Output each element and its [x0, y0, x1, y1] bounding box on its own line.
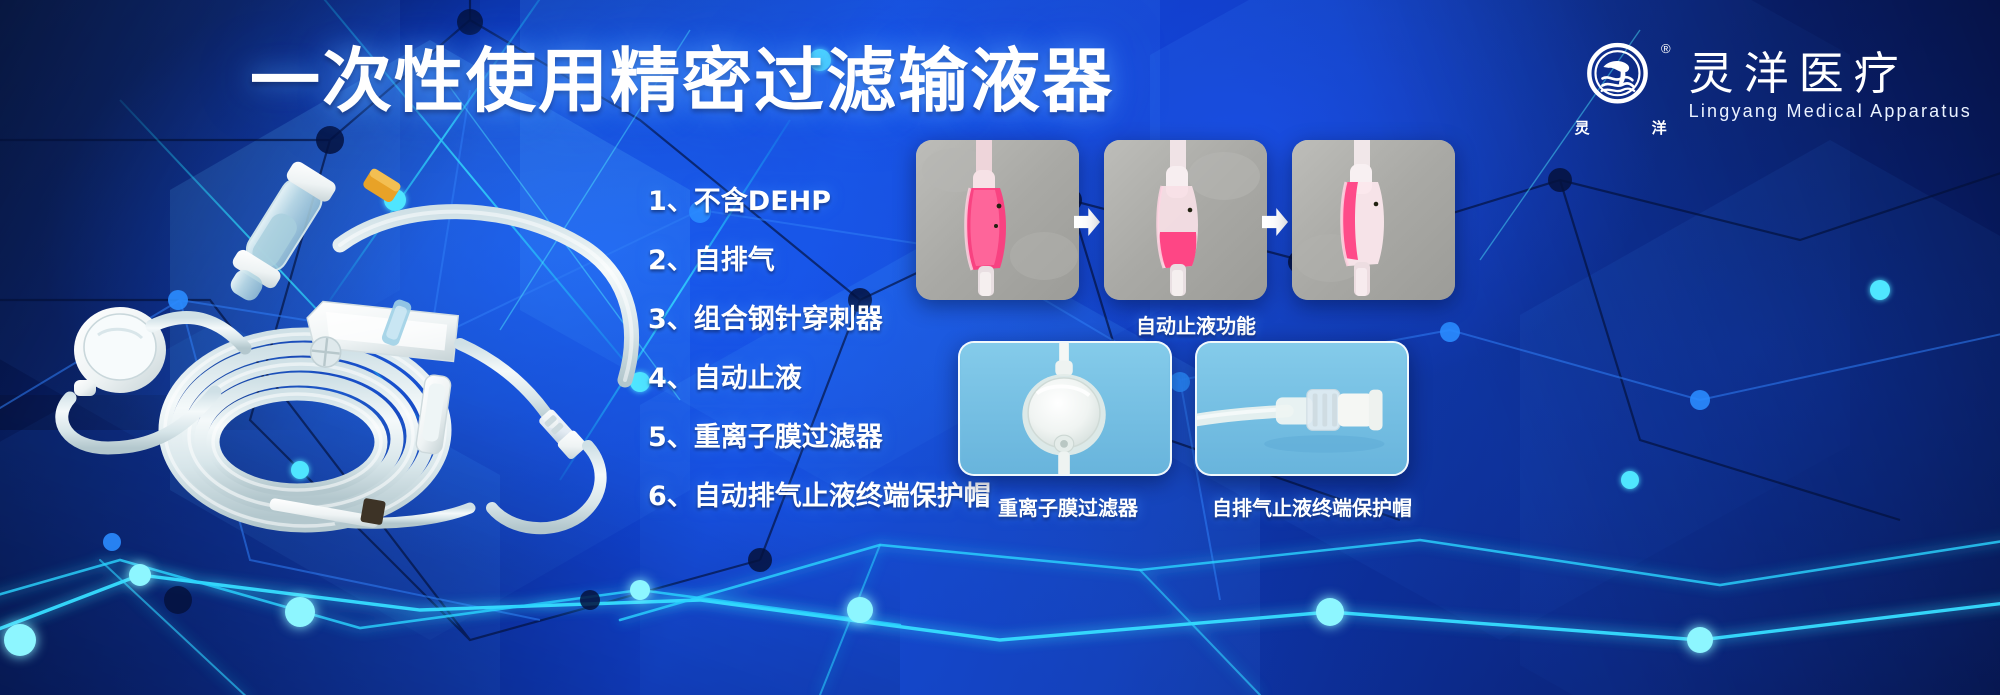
end-cap-photo — [1195, 341, 1409, 476]
drip-chamber-full-icon — [916, 140, 1079, 300]
product-photo — [40, 130, 640, 550]
brand-mark-char-left: 灵 — [1575, 117, 1590, 138]
brand-text: 灵洋医疗 Lingyang Medical Apparatus — [1689, 50, 1972, 122]
heavy-ion-membrane-filter-icon — [960, 343, 1170, 474]
filter-photo — [958, 341, 1172, 476]
feature-item: 6、自动排气止液终端保护帽 — [648, 467, 991, 526]
feature-item: 4、自动止液 — [648, 349, 991, 408]
feature-item: 5、重离子膜过滤器 — [648, 408, 991, 467]
brand-name-en: Lingyang Medical Apparatus — [1689, 101, 1972, 122]
end-cap-caption: 自排气止液终端保护帽 — [1212, 492, 1412, 521]
auto-stop-step-photo — [1104, 140, 1267, 300]
auto-stop-step-photo — [1292, 140, 1455, 300]
brand-emblem: ® 灵 洋 — [1573, 38, 1669, 134]
brand-logo: ® 灵 洋 灵洋医疗 Lingyang Medical Apparatus — [1573, 38, 1972, 134]
brand-mark-char-right: 洋 — [1652, 117, 1667, 138]
circular-wave-emblem-icon — [1577, 38, 1665, 126]
iv-infusion-set-icon — [40, 130, 640, 550]
product-banner: 一次性使用精密过滤输液器 ® 灵 洋 灵洋医疗 Lingyang Medical… — [0, 0, 2000, 695]
auto-stop-step-photo — [916, 140, 1079, 300]
auto-vent-end-protector-cap-icon — [1197, 343, 1407, 474]
drip-chamber-half-icon — [1104, 140, 1267, 300]
page-title: 一次性使用精密过滤输液器 — [250, 46, 1114, 116]
brand-mark-characters: 灵 洋 — [1573, 117, 1669, 138]
brand-name-cn: 灵洋医疗 — [1689, 50, 1972, 99]
registered-trademark-icon: ® — [1661, 42, 1671, 55]
auto-stop-caption: 自动止液功能 — [1136, 310, 1256, 339]
drip-chamber-stopped-icon — [1292, 140, 1455, 300]
filter-caption: 重离子膜过滤器 — [998, 492, 1138, 521]
